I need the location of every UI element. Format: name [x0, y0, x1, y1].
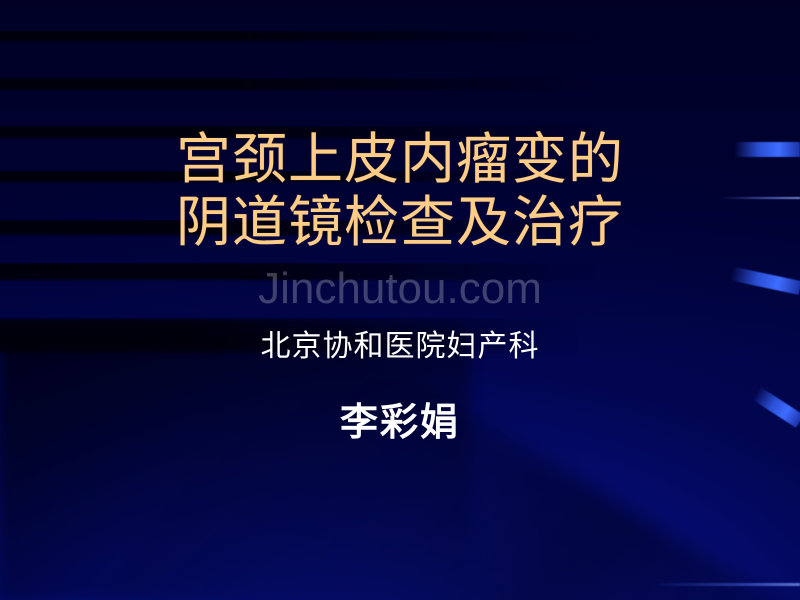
slide-title: 宫颈上皮内瘤变的 阴道镜检查及治疗 [176, 128, 624, 253]
slide-subtitle: 北京协和医院妇产科 [261, 321, 540, 365]
slide-content: 宫颈上皮内瘤变的 阴道镜检查及治疗 北京协和医院妇产科 李彩娟 [0, 0, 800, 600]
presentation-slide: Jinchutou.com 宫颈上皮内瘤变的 阴道镜检查及治疗 北京协和医院妇产… [0, 0, 800, 600]
slide-author: 李彩娟 [340, 391, 460, 446]
